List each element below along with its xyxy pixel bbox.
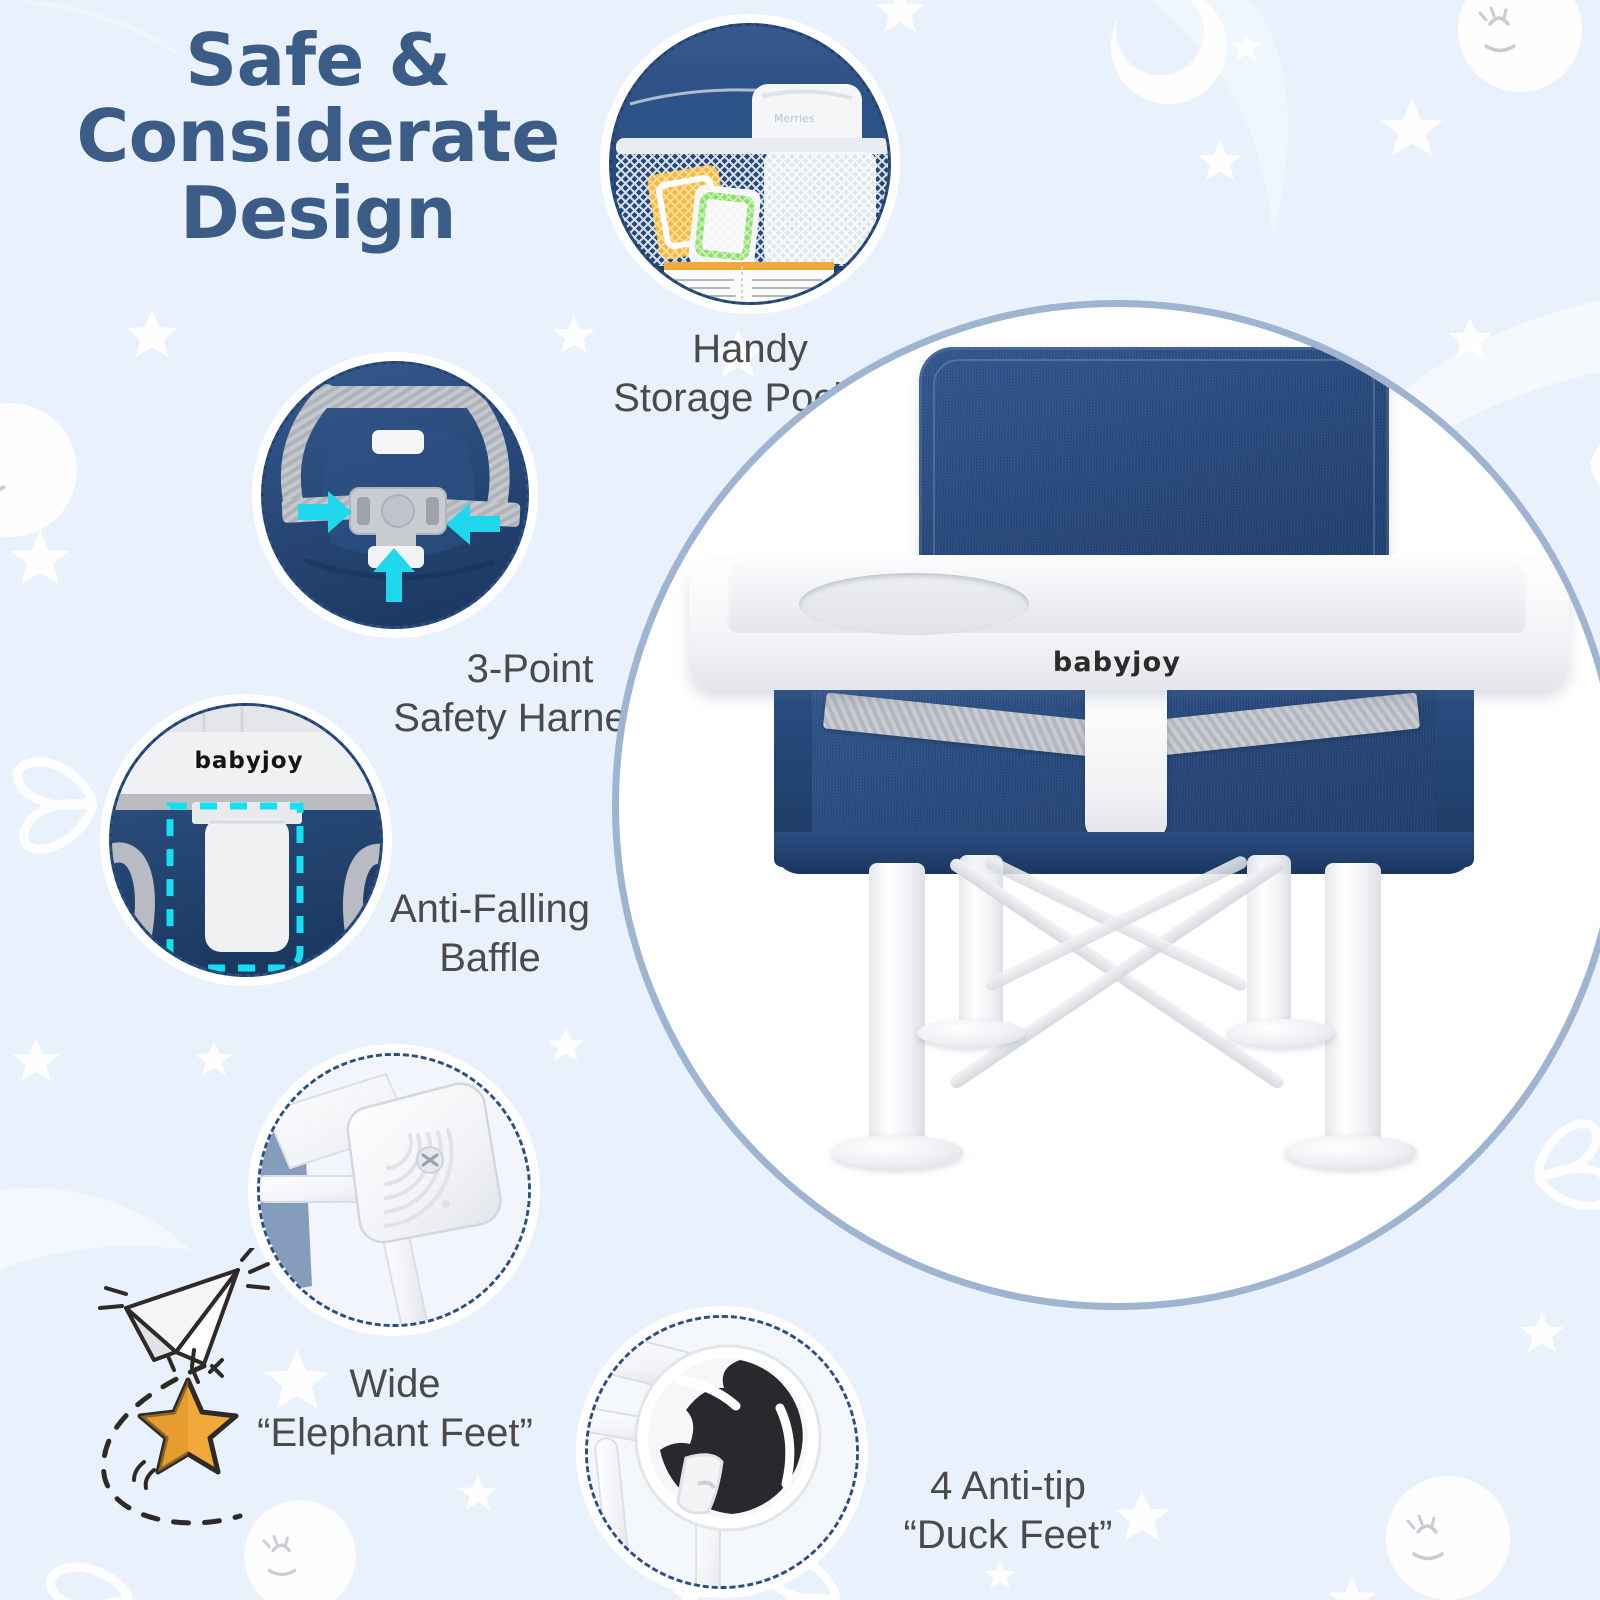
feature-circle-safety-harness <box>252 352 538 638</box>
product-photo: babyjoy <box>619 307 1600 1303</box>
chair-tray-well <box>799 573 1029 635</box>
chair-foot-front-right <box>1285 1135 1417 1169</box>
baffle-logo-text: babyjoy <box>194 748 303 774</box>
duck-feet-label-1: 4 Anti-tip <box>808 1462 1208 1511</box>
chair-leg-front-right <box>1325 863 1381 1153</box>
infographic-canvas: Safe & Considerate Design <box>0 0 1600 1600</box>
storage-pocket-photo: Merries <box>612 26 888 302</box>
feature-label-duck-feet: 4 Anti-tip “Duck Feet” <box>808 1462 1208 1560</box>
product-hero-circle: babyjoy <box>612 300 1600 1310</box>
chair-foot-rear-right <box>1227 1019 1335 1047</box>
title-line-2: Considerate <box>58 98 578 174</box>
feature-circle-storage-pocket: Merries <box>600 14 900 314</box>
chair-leg-front-left <box>869 863 925 1153</box>
svg-text:Merries: Merries <box>774 112 815 125</box>
chair-tray-logo: babyjoy <box>619 647 1600 678</box>
title-line-1: Safe & <box>58 22 578 98</box>
chair-foot-front-left <box>831 1135 963 1169</box>
chair-anti-falling-baffle <box>1085 679 1167 839</box>
orange-star-icon <box>134 1350 236 1488</box>
safety-harness-photo <box>264 364 526 626</box>
chair-foot-rear-left <box>917 1019 1025 1047</box>
paper-plane-icon <box>100 1248 268 1382</box>
page-title: Safe & Considerate Design <box>58 22 578 251</box>
duck-feet-label-2: “Duck Feet” <box>808 1511 1208 1560</box>
paper-plane-doodle <box>92 1248 332 1528</box>
title-line-3: Design <box>58 175 578 251</box>
